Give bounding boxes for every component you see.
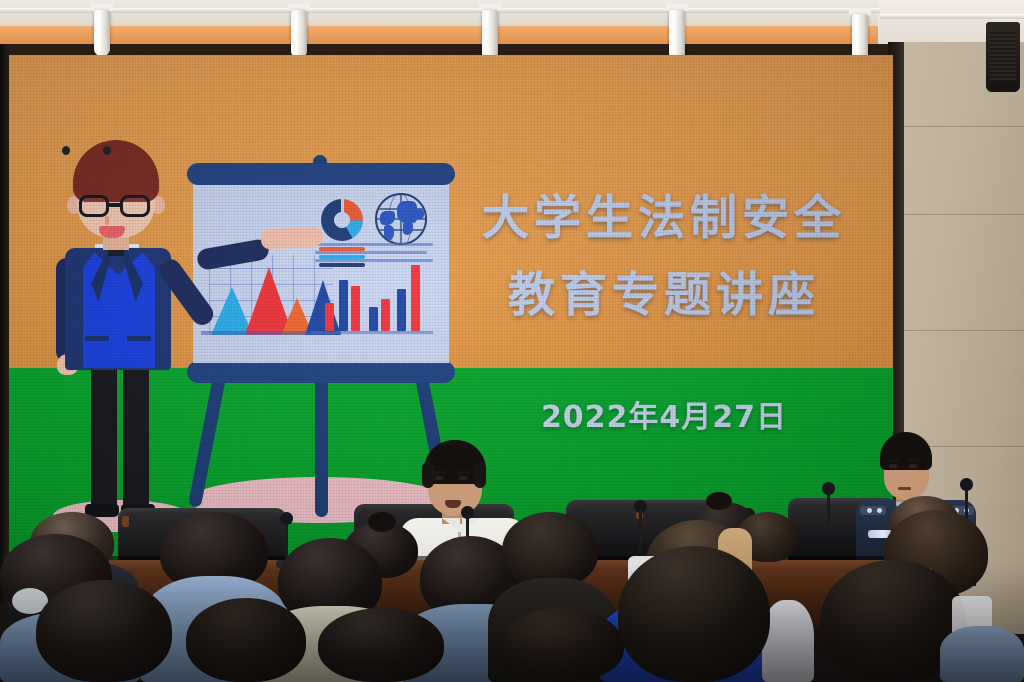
bar-chart-baseline — [311, 331, 433, 334]
bar-5 — [369, 307, 378, 331]
character-pocket-left — [85, 336, 109, 341]
board-bottom-bar — [187, 361, 455, 383]
wall-seam-2 — [900, 214, 1024, 215]
board-canvas — [193, 183, 449, 363]
wall-seam-1 — [900, 126, 1024, 127]
audience-bun-back-2 — [368, 512, 396, 532]
officer-brow-left — [888, 459, 899, 462]
slide-title-line-1: 大学生法制安全 — [449, 180, 879, 257]
data-line-2 — [315, 251, 427, 254]
chair-left-pin-a — [122, 516, 129, 527]
audience-bun-back-3 — [706, 492, 732, 510]
speaker-mouth — [445, 500, 461, 508]
microphone-5-stem — [827, 493, 830, 533]
character-hand-right-pointing — [261, 226, 324, 249]
officer-insignia-1 — [867, 508, 872, 513]
spotlight-2 — [291, 10, 307, 58]
glasses-lens-right — [120, 195, 150, 217]
donut-chart-hole — [334, 212, 350, 228]
glasses-bridge — [109, 203, 120, 207]
speaker-brow-right — [458, 471, 470, 474]
bar-7 — [397, 289, 406, 331]
data-line-1 — [315, 243, 433, 246]
globe-landmass-5 — [415, 209, 424, 219]
spotlight-4 — [669, 10, 685, 60]
officer-brow-right — [908, 459, 919, 462]
spotlight-3 — [482, 10, 498, 60]
data-line-3 — [315, 259, 433, 262]
character-hair-fringe — [81, 170, 151, 196]
globe-landmass-4 — [403, 221, 413, 235]
speaker-hair-side-left — [422, 462, 434, 488]
character-leg-left — [91, 364, 117, 510]
character-pocket-right — [127, 336, 151, 341]
globe-landmass-3 — [397, 201, 417, 223]
character-nose — [105, 216, 109, 225]
bar-chart — [313, 263, 437, 331]
light-rail-right — [880, 14, 1024, 19]
slide-title-line-2: 教育专题讲座 — [449, 257, 879, 334]
officer-mouth — [898, 487, 911, 490]
globe-icon — [375, 193, 427, 245]
bar-4 — [351, 286, 360, 331]
glasses-lens-left — [79, 195, 109, 217]
speaker-hair-side-right — [474, 462, 486, 488]
microphone-3-stem — [639, 511, 642, 553]
easel-leg-center — [315, 377, 328, 517]
light-rail-center — [360, 8, 880, 13]
speaker-eye-left — [435, 476, 444, 480]
officer-eye-left — [889, 464, 897, 468]
glasses-icon — [76, 195, 156, 217]
donut-chart-gap — [341, 197, 344, 213]
officer-insignia-2 — [877, 508, 882, 513]
speaker-eye-right — [459, 476, 468, 480]
character-eye-left — [62, 146, 70, 155]
bar-2 — [325, 303, 334, 331]
officer-eye-right — [909, 464, 917, 468]
officer-hair — [880, 432, 932, 470]
slide-title: 大学生法制安全 教育专题讲座 — [449, 180, 879, 334]
lecture-hall-photo: 大学生法制安全 教育专题讲座 2022年4月27日 — [0, 0, 1024, 682]
character-eye-right — [103, 146, 111, 155]
bar-1 — [313, 311, 322, 331]
foreground-vignette — [0, 562, 1024, 682]
slide-date: 2022年4月27日 — [449, 392, 879, 436]
speaker-grill — [990, 30, 1016, 82]
wall-seam-3 — [900, 330, 1024, 331]
bar-8 — [411, 265, 420, 331]
bar-3 — [339, 280, 348, 331]
speaker-brow-left — [434, 471, 446, 474]
officer-epaulet-left — [860, 506, 886, 515]
spotlight-1 — [94, 10, 110, 56]
bar-6 — [381, 299, 390, 331]
character-neck — [103, 236, 129, 250]
board-top-bar — [187, 163, 455, 185]
character-leg-right — [123, 364, 149, 510]
presenter-character — [47, 140, 197, 560]
